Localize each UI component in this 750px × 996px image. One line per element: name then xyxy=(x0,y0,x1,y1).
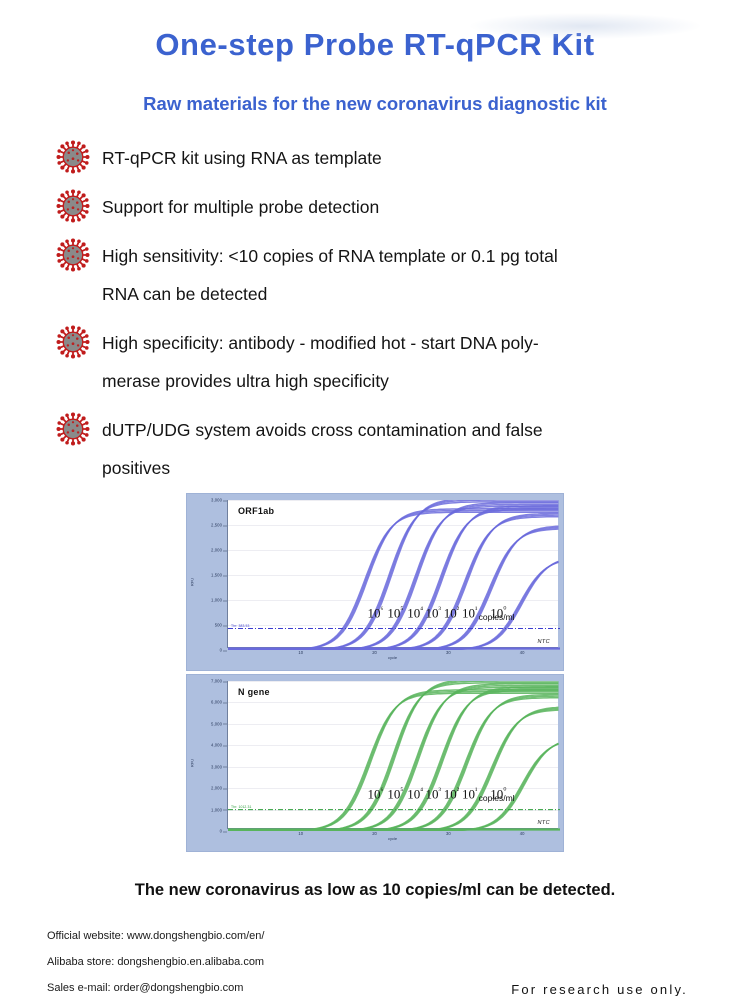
x-tick-label: 20 xyxy=(372,650,377,655)
list-item-text: RT-qPCR kit using RNA as template xyxy=(102,139,382,177)
plot-area: ORF1ab Thr: 383.5310⁶10⁵10⁴10³10²10¹10⁰c… xyxy=(227,500,558,648)
y-axis-ticks: 3,0002,5002,0001,5001,0005000 xyxy=(187,500,227,648)
y-tick-label: 4,000 xyxy=(211,743,222,748)
dilution-label: 10⁶ xyxy=(367,786,383,802)
x-tick-label: 30 xyxy=(446,650,451,655)
y-tick-label: 0 xyxy=(220,648,222,653)
dilution-label: 10¹ xyxy=(462,605,477,621)
ntc-label: NTC xyxy=(537,639,550,645)
dilution-label: 10³ xyxy=(426,605,441,621)
x-tick-label: 10 xyxy=(298,831,303,836)
dilution-label: 10⁴ xyxy=(407,605,423,621)
x-tick-label: 20 xyxy=(372,831,377,836)
dilution-label: 10² xyxy=(444,786,459,802)
list-item-text: High specificity: antibody - modified ho… xyxy=(102,324,539,400)
dilution-label: 10⁵ xyxy=(387,786,403,802)
coronavirus-icon xyxy=(56,325,90,359)
dilution-label: 10⁴ xyxy=(407,786,423,802)
curve-layer xyxy=(228,681,560,831)
dilution-label: 10⁵ xyxy=(387,605,403,621)
list-item: Support for multiple probe detection xyxy=(56,188,710,226)
contact-block: Official website: www.dongshengbio.com/e… xyxy=(47,930,264,996)
x-axis-label: cycle xyxy=(388,655,397,660)
alibaba-store[interactable]: Alibaba store: dongshengbio.en.alibaba.c… xyxy=(47,956,264,968)
y-tick-label: 1,000 xyxy=(211,807,222,812)
list-item-text: dUTP/UDG system avoids cross contaminati… xyxy=(102,411,543,487)
x-tick-label: 30 xyxy=(446,831,451,836)
amplification-charts: RFU 3,0002,5002,0001,5001,0005000 ORF1ab… xyxy=(186,493,564,855)
coronavirus-icon xyxy=(56,140,90,174)
threshold-label: Thr: 383.53 xyxy=(231,624,249,628)
list-item: High sensitivity: <10 copies of RNA temp… xyxy=(56,237,710,313)
dilution-label: 10¹ xyxy=(462,786,477,802)
conclusion-text: The new coronavirus as low as 10 copies/… xyxy=(0,881,750,900)
official-website[interactable]: Official website: www.dongshengbio.com/e… xyxy=(47,930,264,942)
feature-list: RT-qPCR kit using RNA as template xyxy=(0,139,750,487)
y-tick-label: 3,000 xyxy=(211,498,222,503)
list-item: RT-qPCR kit using RNA as template xyxy=(56,139,710,177)
y-tick-label: 5,000 xyxy=(211,721,222,726)
list-item: High specificity: antibody - modified ho… xyxy=(56,324,710,400)
decorative-top-wash xyxy=(470,13,700,39)
dilution-label: 10³ xyxy=(426,786,441,802)
x-axis-label: cycle xyxy=(388,836,397,841)
coronavirus-icon xyxy=(56,238,90,272)
y-tick-label: 2,500 xyxy=(211,523,222,528)
y-tick-label: 6,000 xyxy=(211,700,222,705)
y-axis-ticks: 7,0006,0005,0004,0003,0002,0001,0000 xyxy=(187,681,227,829)
x-axis-ticks: cycle 10203040 xyxy=(227,648,558,660)
threshold-label: Thr: 1012.31 xyxy=(231,805,251,809)
dilution-label: 10² xyxy=(444,605,459,621)
coronavirus-icon xyxy=(56,189,90,223)
y-tick-label: 2,000 xyxy=(211,548,222,553)
sales-email[interactable]: Sales e-mail: order@dongshengbio.com xyxy=(47,982,264,994)
curve-layer xyxy=(228,500,560,650)
y-tick-label: 7,000 xyxy=(211,679,222,684)
disclaimer-text: For research use only. xyxy=(511,982,688,996)
coronavirus-icon xyxy=(56,412,90,446)
x-tick-label: 40 xyxy=(520,831,525,836)
y-tick-label: 0 xyxy=(220,829,222,834)
ntc-label: NTC xyxy=(537,820,550,826)
x-tick-label: 10 xyxy=(298,650,303,655)
list-item: dUTP/UDG system avoids cross contaminati… xyxy=(56,411,710,487)
dilution-label: 10⁶ xyxy=(367,605,383,621)
y-tick-label: 1,000 xyxy=(211,598,222,603)
page-subtitle: Raw materials for the new coronavirus di… xyxy=(0,93,750,115)
copies-per-ml-label: copies/ml xyxy=(479,612,515,622)
list-item-text: High sensitivity: <10 copies of RNA temp… xyxy=(102,237,558,313)
chart-orf1ab: RFU 3,0002,5002,0001,5001,0005000 ORF1ab… xyxy=(186,493,564,671)
y-tick-label: 2,000 xyxy=(211,786,222,791)
y-tick-label: 500 xyxy=(215,623,222,628)
x-tick-label: 40 xyxy=(520,650,525,655)
y-tick-label: 3,000 xyxy=(211,764,222,769)
x-axis-ticks: cycle 10203040 xyxy=(227,829,558,841)
chart-ngene: RFU 7,0006,0005,0004,0003,0002,0001,0000… xyxy=(186,674,564,852)
y-tick-label: 1,500 xyxy=(211,573,222,578)
copies-per-ml-label: copies/ml xyxy=(479,793,515,803)
plot-area: N gene Thr: 1012.3110⁶10⁵10⁴10³10²10¹10⁰… xyxy=(227,681,558,829)
poster-page: One-step Probe RT-qPCR Kit Raw materials… xyxy=(0,27,750,996)
list-item-text: Support for multiple probe detection xyxy=(102,188,379,226)
